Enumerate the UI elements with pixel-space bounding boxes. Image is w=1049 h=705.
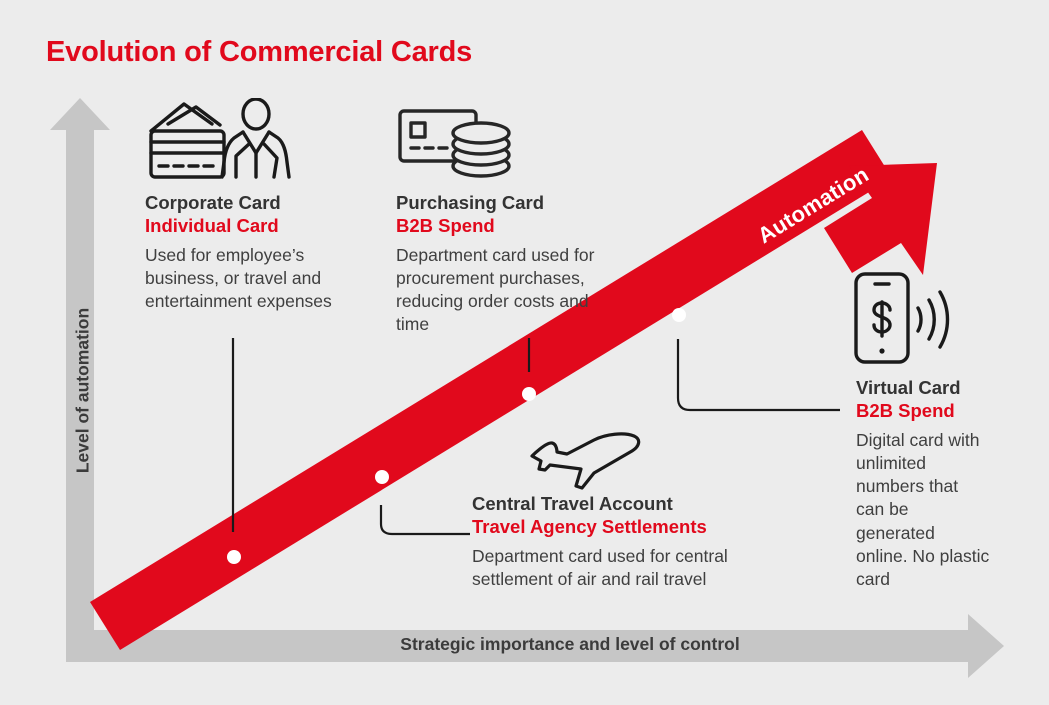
card-with-coins-icon [396,103,514,184]
credit-cards-with-businessperson-icon [146,98,291,185]
stage-description: Used for employee’s business, or travel … [145,244,350,314]
stage-block-central-travel-account: Central Travel Account Travel Agency Set… [472,493,737,591]
stage-subtitle: B2B Spend [856,400,991,422]
stage-description: Department card used for central settlem… [472,545,737,592]
stage-block-corporate-card: Corporate Card Individual Card Used for … [145,192,350,313]
connector-virtual-card [678,339,840,410]
stage-subtitle: Travel Agency Settlements [472,516,737,538]
stage-description: Digital card with unlimited numbers that… [856,429,991,592]
smartphone-contactless-dollar-icon [852,270,952,373]
stage-title: Virtual Card [856,377,991,399]
infographic-canvas: Evolution of Commercial Cards Level of a… [0,0,1049,705]
airplane-icon [528,432,646,495]
stage-block-virtual-card: Virtual Card B2B Spend Digital card with… [856,377,991,592]
stage-title: Central Travel Account [472,493,737,515]
stage-title: Corporate Card [145,192,350,214]
stage-subtitle: B2B Spend [396,215,611,237]
stage-description: Department card used for procurement pur… [396,244,611,337]
connector-central-travel-account [381,505,470,534]
stage-title: Purchasing Card [396,192,611,214]
stage-block-purchasing-card: Purchasing Card B2B Spend Department car… [396,192,611,337]
stage-subtitle: Individual Card [145,215,350,237]
